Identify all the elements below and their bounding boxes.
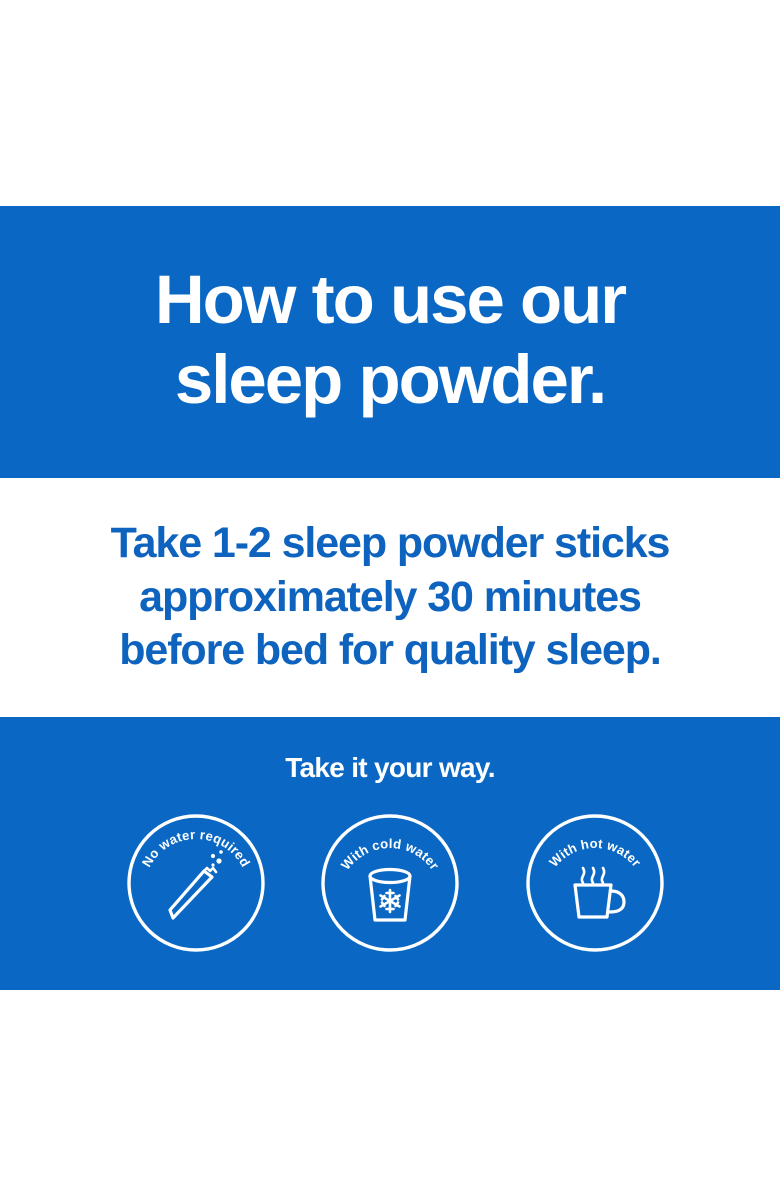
badge-1-label-path: No water required	[139, 827, 253, 870]
badge-3-label: With hot water	[546, 836, 644, 870]
hero-band: How to use our sleep powder.	[0, 206, 780, 478]
hero-title-line-1: How to use our	[90, 260, 690, 340]
badge-2-label-path: With cold water	[338, 836, 442, 873]
badge-1-label: No water required	[139, 827, 253, 870]
instruction-line-2: approximately 30 minutes	[65, 571, 715, 625]
sleep-powder-infographic: How to use our sleep powder. Take 1-2 sl…	[0, 0, 780, 1196]
cold-glass-snowflake-icon	[370, 870, 410, 921]
snowflake-icon	[381, 890, 400, 912]
powder-stick-icon	[170, 850, 223, 918]
steam-lines-icon	[582, 868, 604, 883]
badge-row: No water required	[0, 813, 780, 963]
instruction-text: Take 1-2 sleep powder sticks approximate…	[65, 517, 715, 678]
badge-with-cold-water: With cold water	[320, 813, 460, 953]
usage-band: Take it your way. No water required	[0, 717, 780, 990]
page-title: How to use our sleep powder.	[90, 260, 690, 420]
usage-title: Take it your way.	[0, 752, 780, 784]
badge-no-water-required: No water required	[126, 813, 266, 953]
instruction-band: Take 1-2 sleep powder sticks approximate…	[0, 478, 780, 717]
badge-3-label-path: With hot water	[546, 836, 644, 870]
instruction-line-1: Take 1-2 sleep powder sticks	[65, 517, 715, 571]
instruction-line-3: before bed for quality sleep.	[65, 624, 715, 678]
badge-with-hot-water: With hot water	[525, 813, 665, 953]
badge-2-label: With cold water	[338, 836, 442, 873]
hero-title-line-2: sleep powder.	[90, 340, 690, 420]
hot-mug-steam-icon	[575, 868, 624, 917]
